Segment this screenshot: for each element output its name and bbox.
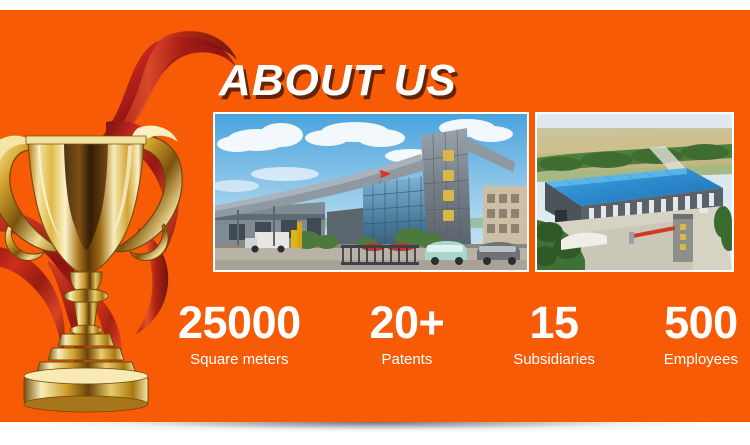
trophy-base [24,334,148,412]
stat-label: Subsidiaries [513,350,595,370]
stat-label: Square meters [178,350,301,370]
stat-item: 15 Subsidiaries [513,298,595,370]
stat-label: Patents [370,350,445,370]
factory-gate-photo [213,112,529,272]
stat-item: 500 Employees [664,298,738,370]
stat-value: 25000 [178,298,301,348]
factory-aerial-photo [535,112,734,272]
page-title: ABOUT US [219,57,457,105]
gold-trophy-icon [26,136,146,274]
stat-value: 20+ [370,298,445,348]
stat-value: 500 [664,298,738,348]
stat-item: 20+ Patents [370,298,445,370]
stat-value: 15 [513,298,595,348]
stat-label: Employees [664,350,738,370]
banner-drop-shadow [18,422,732,442]
about-us-banner: ABOUT US [0,10,750,422]
stats-row: 25000 Square meters 20+ Patents 15 Subsi… [178,298,738,378]
stat-item: 25000 Square meters [178,298,301,370]
